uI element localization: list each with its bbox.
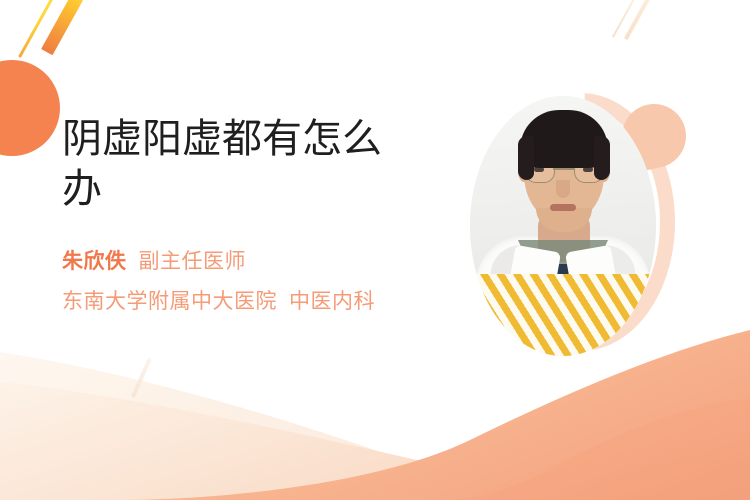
diagonal-stripe-ghost-icon xyxy=(131,358,152,398)
doctor-rank: 副主任医师 xyxy=(139,250,247,273)
page-title: 阴虚阳虚都有怎么办 xyxy=(62,114,414,214)
orange-circle-decoration xyxy=(0,60,60,156)
doctor-department: 中医内科 xyxy=(289,290,375,313)
doctor-affiliation-line: 东南大学附属中大医院中医内科 xyxy=(62,288,375,316)
doctor-name: 朱欣佚 xyxy=(62,250,127,273)
doctor-portrait xyxy=(470,96,656,356)
doctor-video-cover-card: 阴虚阳虚都有怎么办 朱欣佚副主任医师 东南大学附属中大医院中医内科 xyxy=(0,0,750,500)
doctor-hospital: 东南大学附属中大医院 xyxy=(62,290,277,313)
doctor-credit-line: 朱欣佚副主任医师 xyxy=(62,248,246,276)
diagonal-stripe-thick-icon xyxy=(41,0,87,55)
